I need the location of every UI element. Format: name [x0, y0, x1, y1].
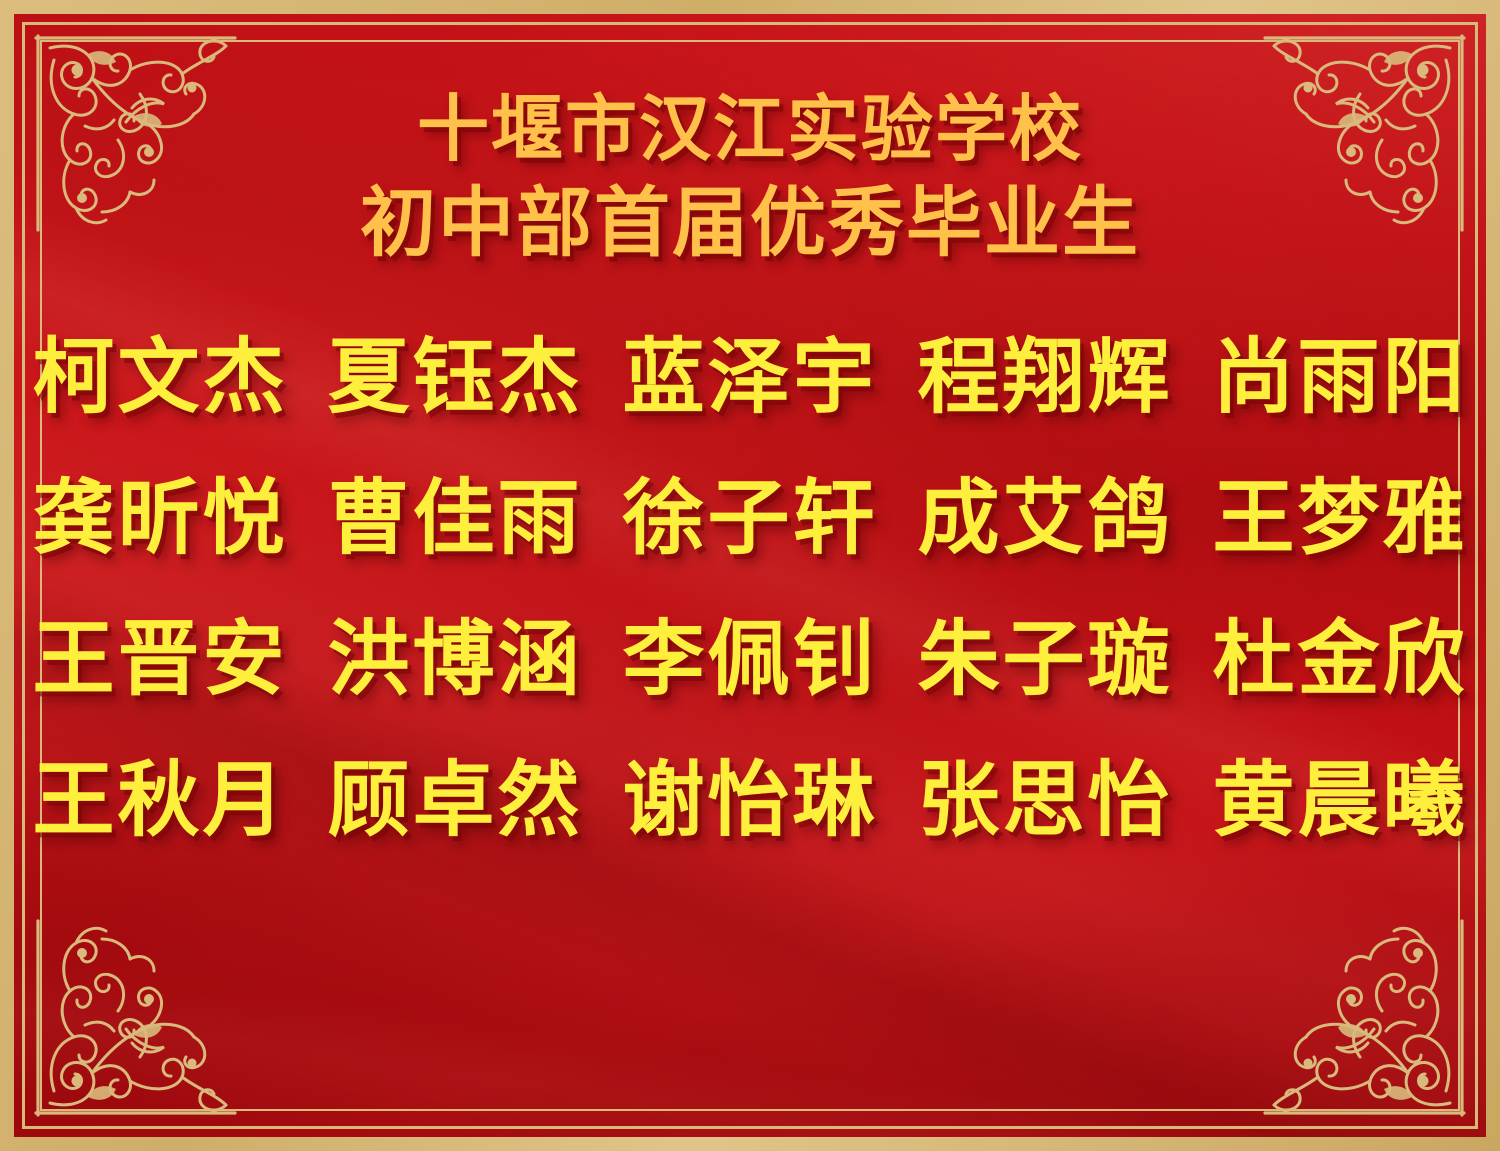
graduate-name: 李佩钊	[623, 601, 878, 720]
graduate-name: 洪博涵	[327, 601, 582, 720]
poster-title-line-1: 十堰市汉江实验学校	[360, 84, 1140, 176]
graduate-name: 徐子轩	[623, 460, 878, 579]
graduate-name-list: 柯文杰 夏钰杰 蓝泽宇 程翔辉 尚雨阳 龚昕悦 曹佳雨 徐子轩 成艾鸽 王梦雅 …	[0, 319, 1500, 861]
name-row: 柯文杰 夏钰杰 蓝泽宇 程翔辉 尚雨阳	[70, 319, 1430, 438]
poster-title-line-2: 初中部首届优秀毕业生	[360, 176, 1140, 273]
graduate-name: 朱子璇	[918, 601, 1173, 720]
poster-content: 十堰市汉江实验学校 初中部首届优秀毕业生 柯文杰 夏钰杰 蓝泽宇 程翔辉 尚雨阳…	[0, 0, 1500, 1151]
graduate-name: 谢怡琳	[623, 742, 878, 861]
name-row: 王晋安 洪博涵 李佩钊 朱子璇 杜金欣	[70, 601, 1430, 720]
name-row: 王秋月 顾卓然 谢怡琳 张思怡 黄晨曦	[70, 742, 1430, 861]
graduate-name: 王晋安	[32, 601, 287, 720]
graduate-name: 尚雨阳	[1213, 319, 1468, 438]
graduate-name: 蓝泽宇	[623, 319, 878, 438]
graduate-name: 王秋月	[32, 742, 287, 861]
name-row: 龚昕悦 曹佳雨 徐子轩 成艾鸽 王梦雅	[70, 460, 1430, 579]
graduate-name: 黄晨曦	[1213, 742, 1468, 861]
graduate-name: 龚昕悦	[32, 460, 287, 579]
graduate-name: 成艾鸽	[918, 460, 1173, 579]
graduate-name: 杜金欣	[1213, 601, 1468, 720]
graduate-name: 王梦雅	[1213, 460, 1468, 579]
poster-title: 十堰市汉江实验学校 初中部首届优秀毕业生	[360, 84, 1140, 273]
graduate-name: 曹佳雨	[327, 460, 582, 579]
graduate-name: 柯文杰	[32, 319, 287, 438]
graduate-name: 夏钰杰	[327, 319, 582, 438]
graduate-name: 顾卓然	[327, 742, 582, 861]
graduate-name: 张思怡	[918, 742, 1173, 861]
graduate-name: 程翔辉	[918, 319, 1173, 438]
honor-roll-poster: 十堰市汉江实验学校 初中部首届优秀毕业生 柯文杰 夏钰杰 蓝泽宇 程翔辉 尚雨阳…	[0, 0, 1500, 1151]
